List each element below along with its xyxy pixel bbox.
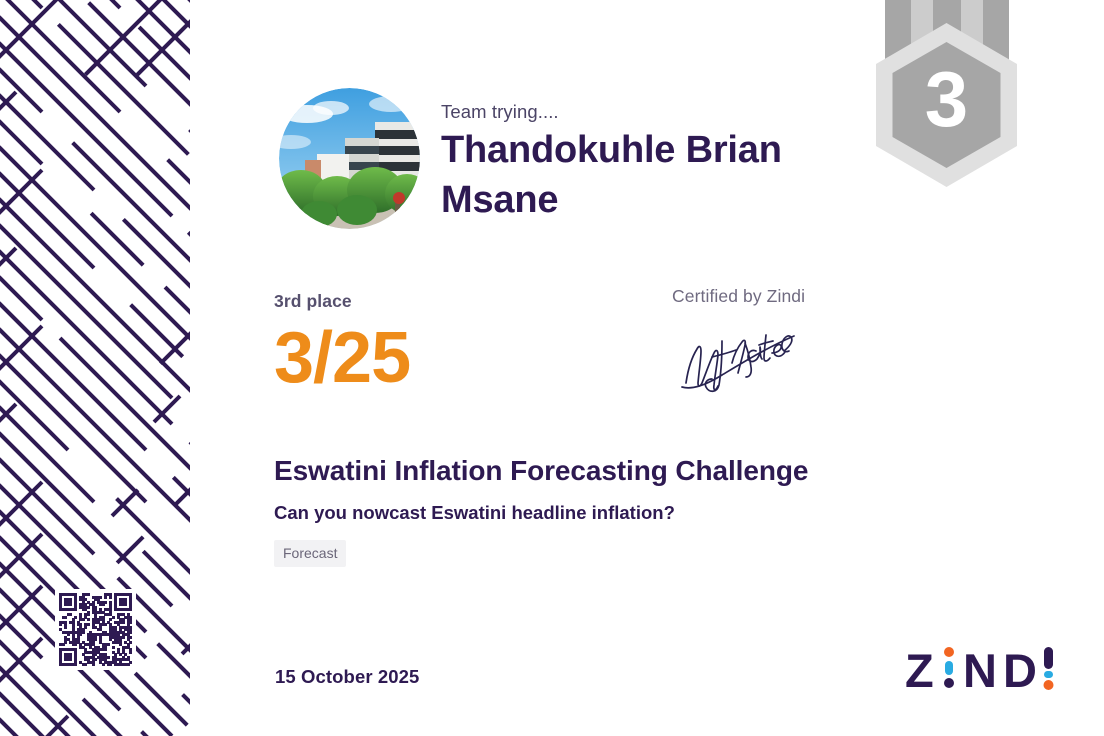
zindi-bang-dot — [1044, 680, 1054, 690]
handwritten-signature-icon — [676, 317, 805, 400]
challenge-block: Eswatini Inflation Forecasting Challenge… — [274, 455, 954, 567]
participant-header: Team trying.... Thandokuhle Brian Msane — [441, 100, 841, 225]
zindi-letter-n: N — [963, 645, 997, 692]
challenge-subtitle: Can you nowcast Eswatini headline inflat… — [274, 502, 954, 524]
medal-graphic: 3 — [849, 0, 1044, 275]
zindi-letter-d: D — [1003, 645, 1037, 692]
zindi-logo-graphic: Z N D — [905, 645, 1065, 692]
zindi-letter-z: Z — [905, 645, 934, 692]
certified-by-label: Certified by Zindi — [672, 286, 805, 307]
rank-label: 3rd place — [274, 291, 410, 312]
challenge-tag-list: Forecast — [274, 540, 954, 567]
zindi-i-bar — [945, 661, 953, 675]
zindi-logo-icon: Z N D — [905, 645, 1065, 692]
medal-hexagon-icon: 3 — [849, 0, 1044, 275]
zindi-i-dot-top — [944, 647, 954, 657]
profile-avatar-image — [279, 88, 420, 229]
rank-block: 3rd place 3/25 — [274, 291, 410, 394]
qr-code-icon[interactable] — [55, 589, 136, 670]
challenge-tag[interactable]: Forecast — [274, 540, 346, 567]
zindi-bang-top — [1044, 647, 1053, 669]
certified-block: Certified by Zindi — [672, 286, 805, 400]
medal-rank-number: 3 — [925, 55, 968, 143]
avatar-photo — [279, 88, 420, 229]
qr-code-canvas — [59, 593, 132, 666]
rank-value: 3/25 — [274, 322, 410, 394]
zindi-bang-mid — [1044, 671, 1053, 678]
participant-name: Thandokuhle Brian Msane — [441, 125, 841, 225]
certificate-date: 15 October 2025 — [275, 666, 419, 688]
team-label: Team trying.... — [441, 100, 841, 123]
signature-graphic — [676, 317, 801, 395]
challenge-title: Eswatini Inflation Forecasting Challenge — [274, 455, 954, 487]
zindi-i-dot-bottom — [944, 678, 954, 688]
